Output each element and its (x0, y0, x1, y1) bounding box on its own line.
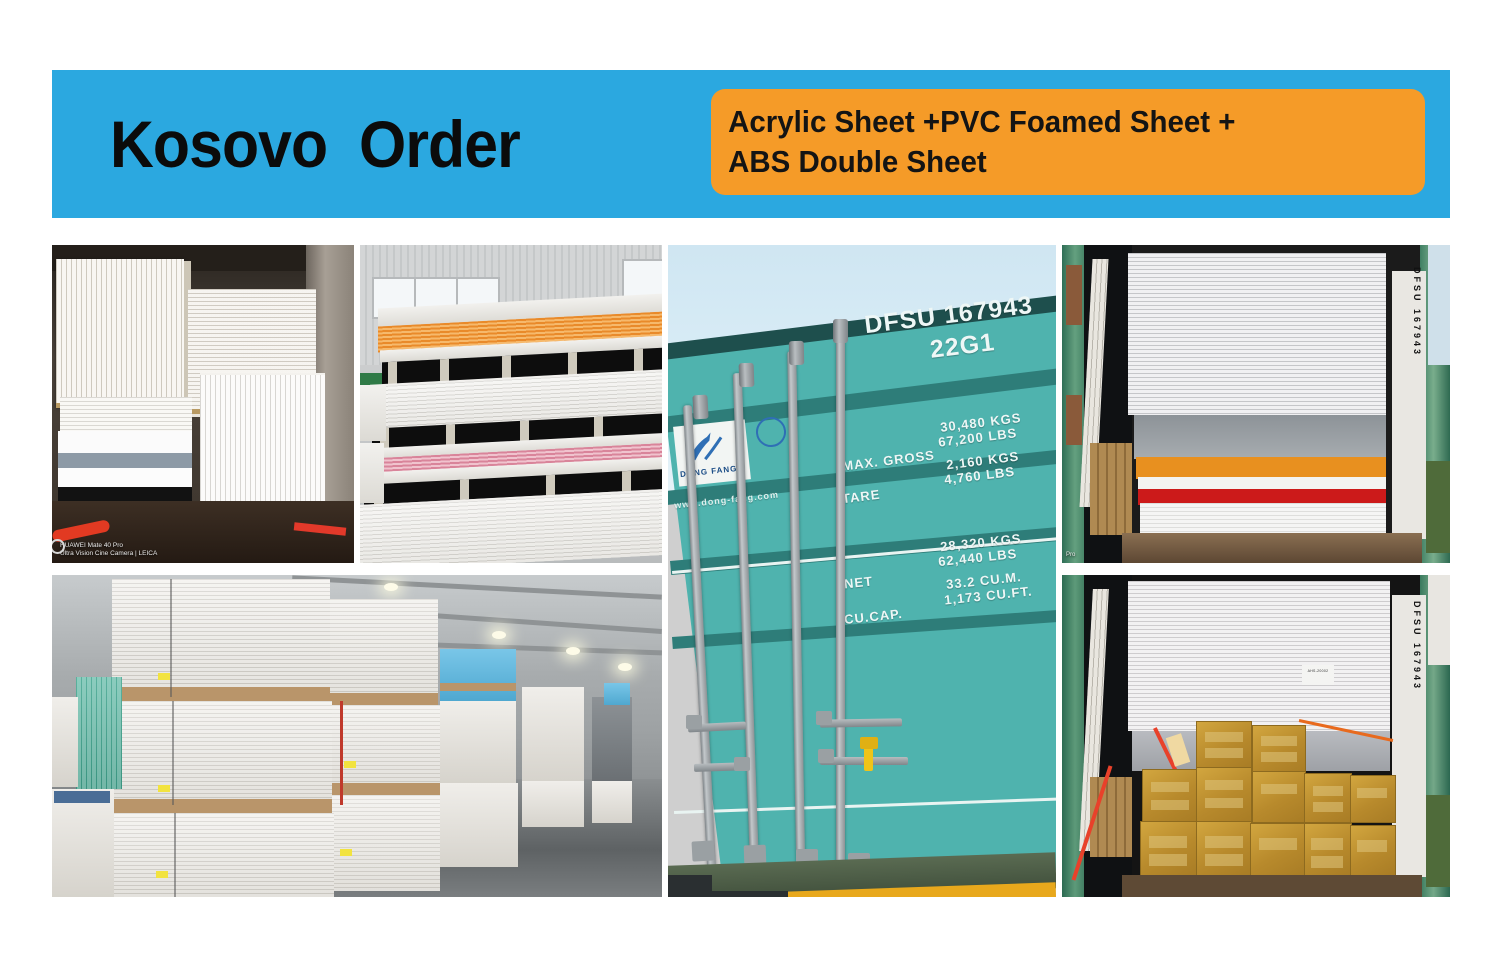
photo-warehouse-color-sheets (360, 245, 662, 563)
photo-container-striped-sheets: DFSU 167943 Pro (1062, 245, 1450, 563)
watermark-device: HUAWEI Mate 40 Pro (60, 542, 157, 550)
photo-container-white-sheets: HUAWEI Mate 40 Pro Ultra Vision Cine Cam… (52, 245, 354, 563)
photo-watermark-partial: Pro (1066, 552, 1075, 559)
sheet-batch-label-text: AHS-20002 (1302, 669, 1334, 673)
product-tag-line-2: ABS Double Sheet (728, 144, 987, 179)
spec-label-net: NET (843, 574, 873, 592)
huawei-watermark: HUAWEI Mate 40 Pro Ultra Vision Cine Cam… (60, 542, 157, 558)
photo-container-carton-boxes: DFSU 167943 AHS-20002 (1062, 575, 1450, 897)
photo-container-doors: DFSU 167943 22G1 MAX. GROSS 30,480 KGS 6… (668, 245, 1056, 897)
watermark-camera: Ultra Vision Cine Camera | LEICA (60, 550, 157, 558)
product-tag-badge: Acrylic Sheet +PVC Foamed Sheet + ABS Do… (711, 89, 1425, 195)
photo-warehouse-pallet-stacks (52, 575, 662, 897)
page-title: Kosovo Order (110, 111, 520, 177)
product-tag-line-1: Acrylic Sheet +PVC Foamed Sheet + (728, 104, 1235, 139)
slide-page: Kosovo Order Acrylic Sheet +PVC Foamed S… (0, 0, 1500, 959)
header-banner: Kosovo Order Acrylic Sheet +PVC Foamed S… (52, 70, 1450, 218)
door-container-marking: DFSU 167943 (1412, 267, 1422, 357)
door-container-marking-2: DFSU 167943 (1412, 601, 1422, 691)
photo-grid: HUAWEI Mate 40 Pro Ultra Vision Cine Cam… (52, 245, 1450, 897)
sheet-batch-label: AHS-20002 (1302, 665, 1334, 685)
product-tag-text: Acrylic Sheet +PVC Foamed Sheet + ABS Do… (711, 102, 1253, 181)
